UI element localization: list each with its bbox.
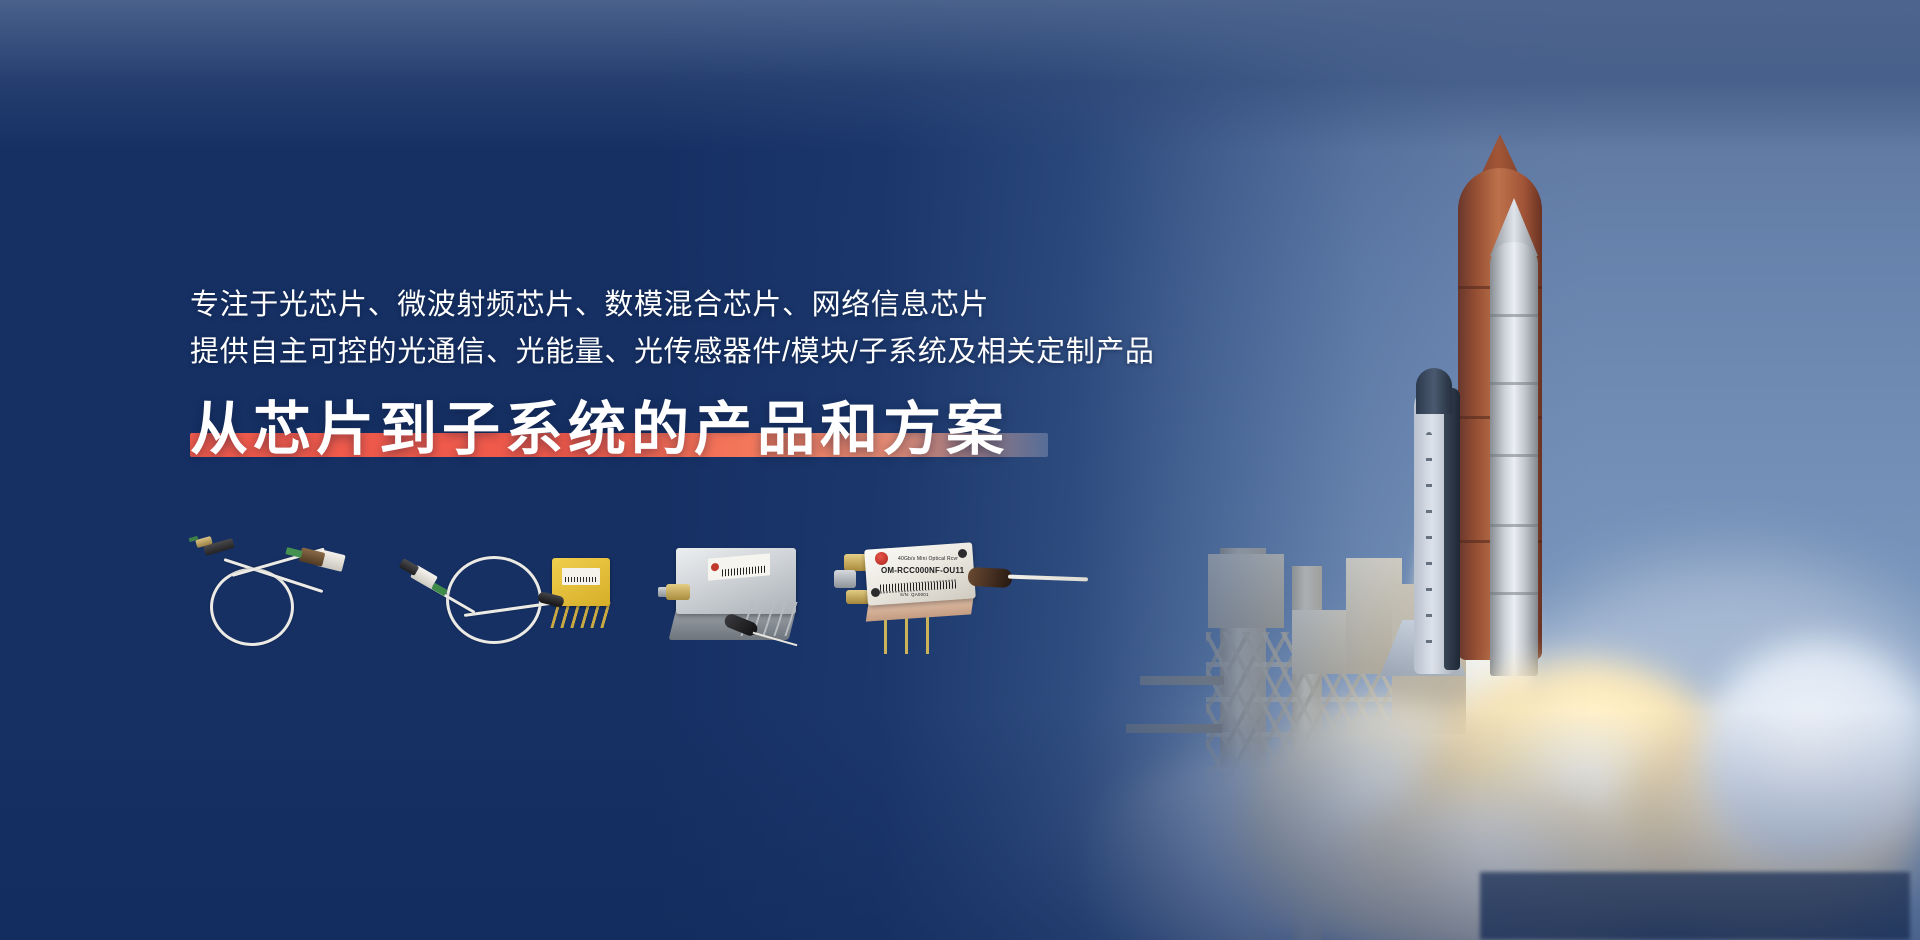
sma-nut [834, 570, 856, 588]
product-optical-receiver-module: 40Gb/s Mini Optical Rcvr OM-RCC000NF-OU1… [838, 532, 1088, 658]
sma-connector [666, 584, 690, 600]
product-fiber-pigtail-assembly [190, 530, 370, 650]
vendor-logo-icon [875, 552, 888, 565]
module-label [562, 568, 600, 585]
subtitle-line-1: 专注于光芯片、微波射频芯片、数模混合芯片、网络信息芯片 [190, 282, 1260, 329]
headline-block: 从芯片到子系统的产品和方案 [190, 398, 1009, 463]
module-screw [871, 588, 880, 597]
module-label-serial: S/N: QA0001 [900, 592, 929, 597]
product-rf-metal-module [668, 540, 816, 658]
fiber-ferrule [285, 547, 302, 558]
module-label-top: 40Gb/s Mini Optical Rcvr [898, 556, 958, 562]
fiber-strand [1008, 575, 1088, 582]
module-label-partnumber: OM-RCC000NF-OU11 [881, 566, 964, 575]
module-screw [958, 549, 967, 558]
product-butterfly-laser-module [388, 536, 626, 660]
subtitle-line-2: 提供自主可控的光通信、光能量、光传感器件/模块/子系统及相关定制产品 [190, 329, 1260, 376]
hero-banner: 专注于光芯片、微波射频芯片、数模混合芯片、网络信息芯片 提供自主可控的光通信、光… [0, 0, 1920, 940]
product-photo-row: 40Gb/s Mini Optical Rcvr OM-RCC000NF-OU1… [190, 522, 1060, 682]
page-title: 从芯片到子系统的产品和方案 [190, 398, 1009, 463]
fiber-loop [446, 556, 542, 644]
fiber-boot [968, 567, 1013, 588]
top-shade-overlay [0, 0, 1920, 150]
hero-copy: 专注于光芯片、微波射频芯片、数模混合芯片、网络信息芯片 提供自主可控的光通信、光… [190, 282, 1260, 463]
bottom-shade-overlay [0, 710, 1920, 940]
